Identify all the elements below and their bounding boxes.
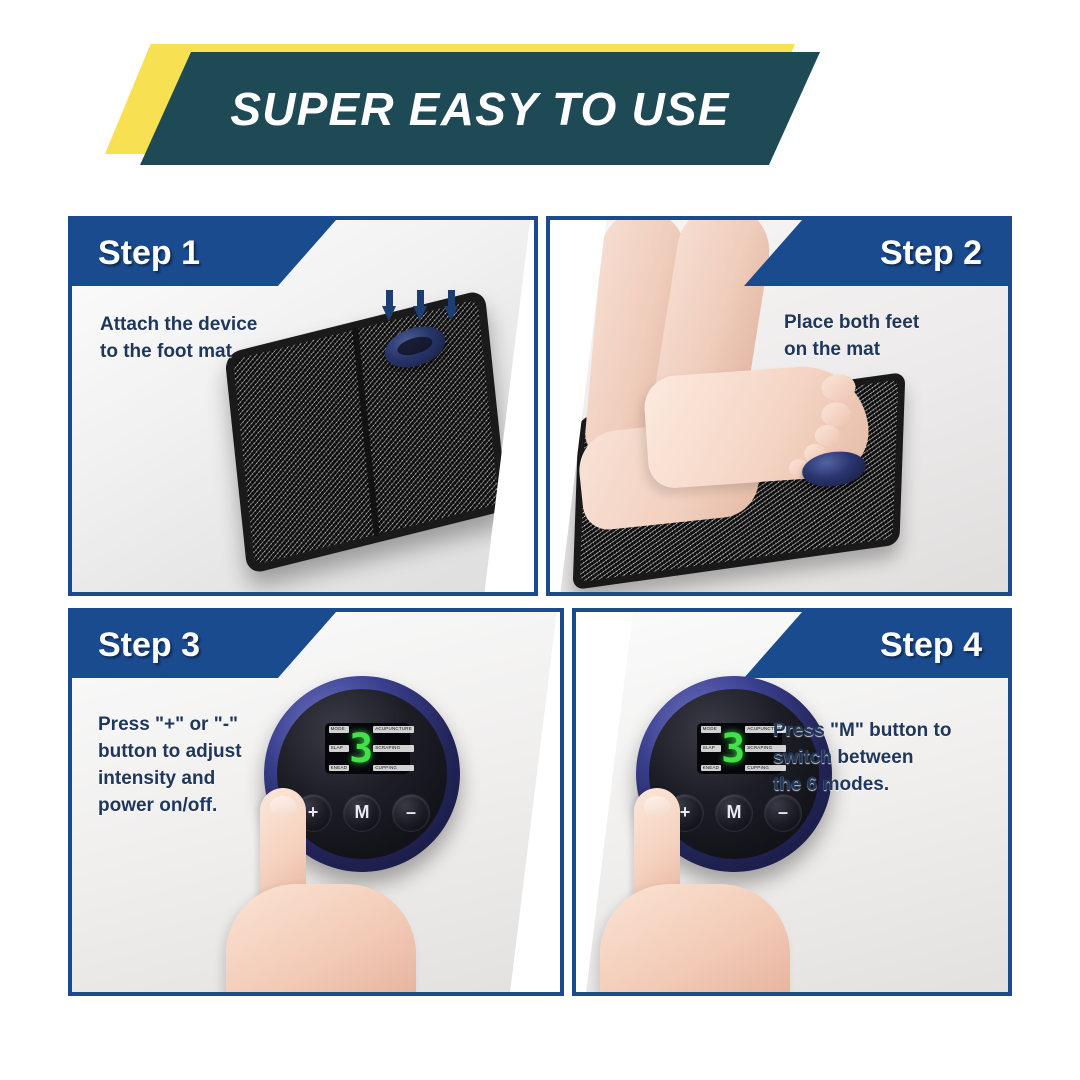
palm (226, 884, 416, 996)
display-label: SLAP (701, 745, 722, 752)
display-label: MODE (701, 726, 722, 733)
step-panel-4: MODE SLAP KNEAD 3 ACUPUNCTURE SCRAPING C… (572, 608, 1012, 996)
display-label: SCRAPING (373, 745, 414, 752)
minus-button[interactable]: – (392, 794, 430, 832)
display-labels-left: MODE SLAP KNEAD (701, 726, 722, 771)
intensity-level-digit: 3 (349, 732, 373, 766)
mode-button[interactable]: M (715, 794, 753, 832)
page-title: SUPER EASY TO USE (140, 52, 820, 165)
display-label: MODE (329, 726, 350, 733)
mode-button[interactable]: M (343, 794, 381, 832)
step-panel-2: Step 2 Place both feet on the mat (546, 216, 1012, 596)
arrow-down-icon (382, 290, 397, 324)
display-labels-right: ACUPUNCTURE SCRAPING CUPPING (373, 726, 414, 771)
step-caption-4: Press "M" button to switch between the 6… (773, 718, 988, 799)
steps-grid: Step 1 Attach the device to the foot mat… (68, 216, 1012, 996)
toe (821, 401, 852, 427)
display-label: KNEAD (329, 765, 350, 772)
step-panel-1: Step 1 Attach the device to the foot mat (68, 216, 538, 596)
display-label: ACUPUNCTURE (373, 726, 414, 733)
step-caption-1: Attach the device to the foot mat (100, 312, 310, 366)
palm (600, 884, 790, 996)
display-label: CUPPING (373, 765, 414, 772)
display-label: SLAP (329, 745, 350, 752)
toe (821, 373, 857, 402)
step-panel-3: MODE SLAP KNEAD 3 ACUPUNCTURE SCRAPING C… (68, 608, 564, 996)
display-labels-left: MODE SLAP KNEAD (329, 726, 350, 771)
arrow-down-icon (444, 290, 459, 324)
controller-buttons-3: + M – (294, 794, 430, 832)
controller-buttons-4: + M – (666, 794, 802, 832)
arrow-down-icon (413, 290, 428, 324)
minus-button[interactable]: – (764, 794, 802, 832)
intensity-level-digit: 3 (721, 732, 745, 766)
step-caption-3: Press "+" or "-" button to adjust intens… (98, 712, 313, 820)
fingernail (644, 796, 670, 816)
controller-display: MODE SLAP KNEAD 3 ACUPUNCTURE SCRAPING C… (325, 723, 410, 774)
down-arrows-group (382, 290, 459, 324)
display-label: KNEAD (701, 765, 722, 772)
controller-display: MODE SLAP KNEAD 3 ACUPUNCTURE SCRAPING C… (697, 723, 782, 774)
step-caption-2: Place both feet on the mat (784, 310, 984, 364)
header-banner: SUPER EASY TO USE (0, 0, 1080, 190)
